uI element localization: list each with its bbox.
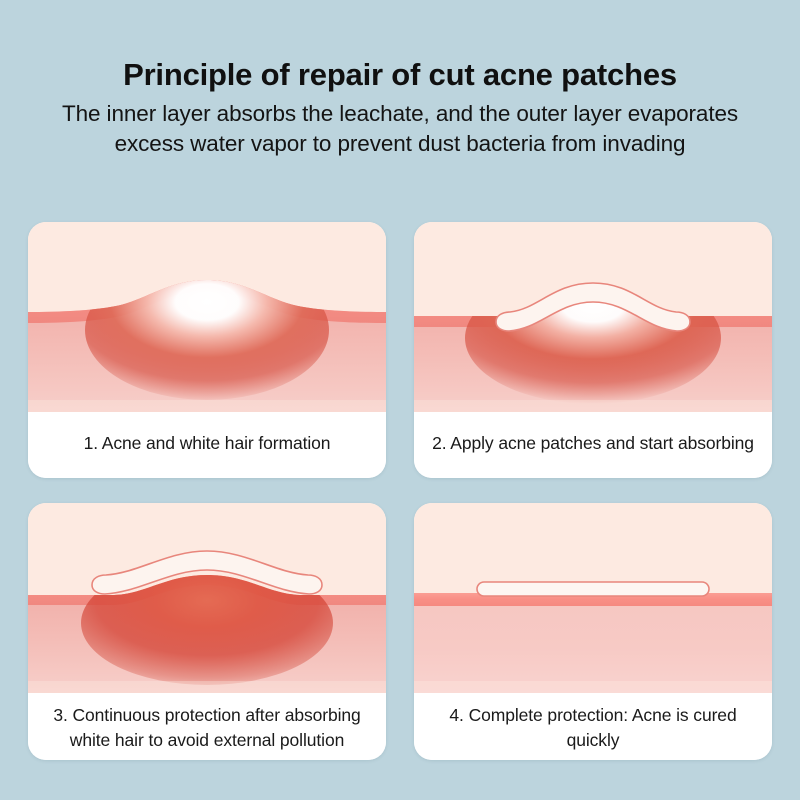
panel-caption-3-line-2: white hair to avoid external pollution (38, 728, 376, 753)
panel-caption-4-line-2: quickly (424, 728, 762, 753)
panel-caption-3: 3. Continuous protection after absorbing… (28, 693, 386, 760)
skin-diagram-4 (414, 503, 772, 693)
page-subtitle: The inner layer absorbs the leachate, an… (20, 99, 780, 159)
panel-caption-2: 2. Apply acne patches and start absorbin… (414, 412, 772, 478)
dermis-layer-4 (414, 593, 772, 693)
skin-cross-section-svg-3 (28, 503, 386, 693)
page-subtitle-line-1: The inner layer absorbs the leachate, an… (20, 99, 780, 129)
header: Principle of repair of cut acne patches … (0, 0, 800, 200)
panel-card-4: 4. Complete protection: Acne is cured qu… (414, 503, 772, 760)
page-subtitle-line-2: excess water vapor to prevent dust bacte… (20, 129, 780, 159)
page-title: Principle of repair of cut acne patches (0, 56, 800, 94)
panel-grid: 1. Acne and white hair formation (28, 222, 772, 760)
skin-cross-section-svg-1 (28, 222, 386, 412)
panel-caption-4-line-1: 4. Complete protection: Acne is cured (424, 703, 762, 728)
panel-caption-3-line-1: 3. Continuous protection after absorbing (38, 703, 376, 728)
panel-card-2: 2. Apply acne patches and start absorbin… (414, 222, 772, 478)
panel-caption-1: 1. Acne and white hair formation (28, 412, 386, 478)
skin-diagram-2 (414, 222, 772, 412)
panel-caption-4: 4. Complete protection: Acne is cured qu… (414, 693, 772, 760)
panel-card-1: 1. Acne and white hair formation (28, 222, 386, 478)
skin-cross-section-svg-2 (414, 222, 772, 412)
acne-patch-4 (477, 582, 709, 596)
panel-card-3: 3. Continuous protection after absorbing… (28, 503, 386, 760)
skin-diagram-3 (28, 503, 386, 693)
panel-caption-2-line-1: 2. Apply acne patches and start absorbin… (424, 431, 762, 456)
panel-caption-1-line-1: 1. Acne and white hair formation (38, 431, 376, 456)
skin-cross-section-svg-4 (414, 503, 772, 693)
skin-diagram-1 (28, 222, 386, 412)
